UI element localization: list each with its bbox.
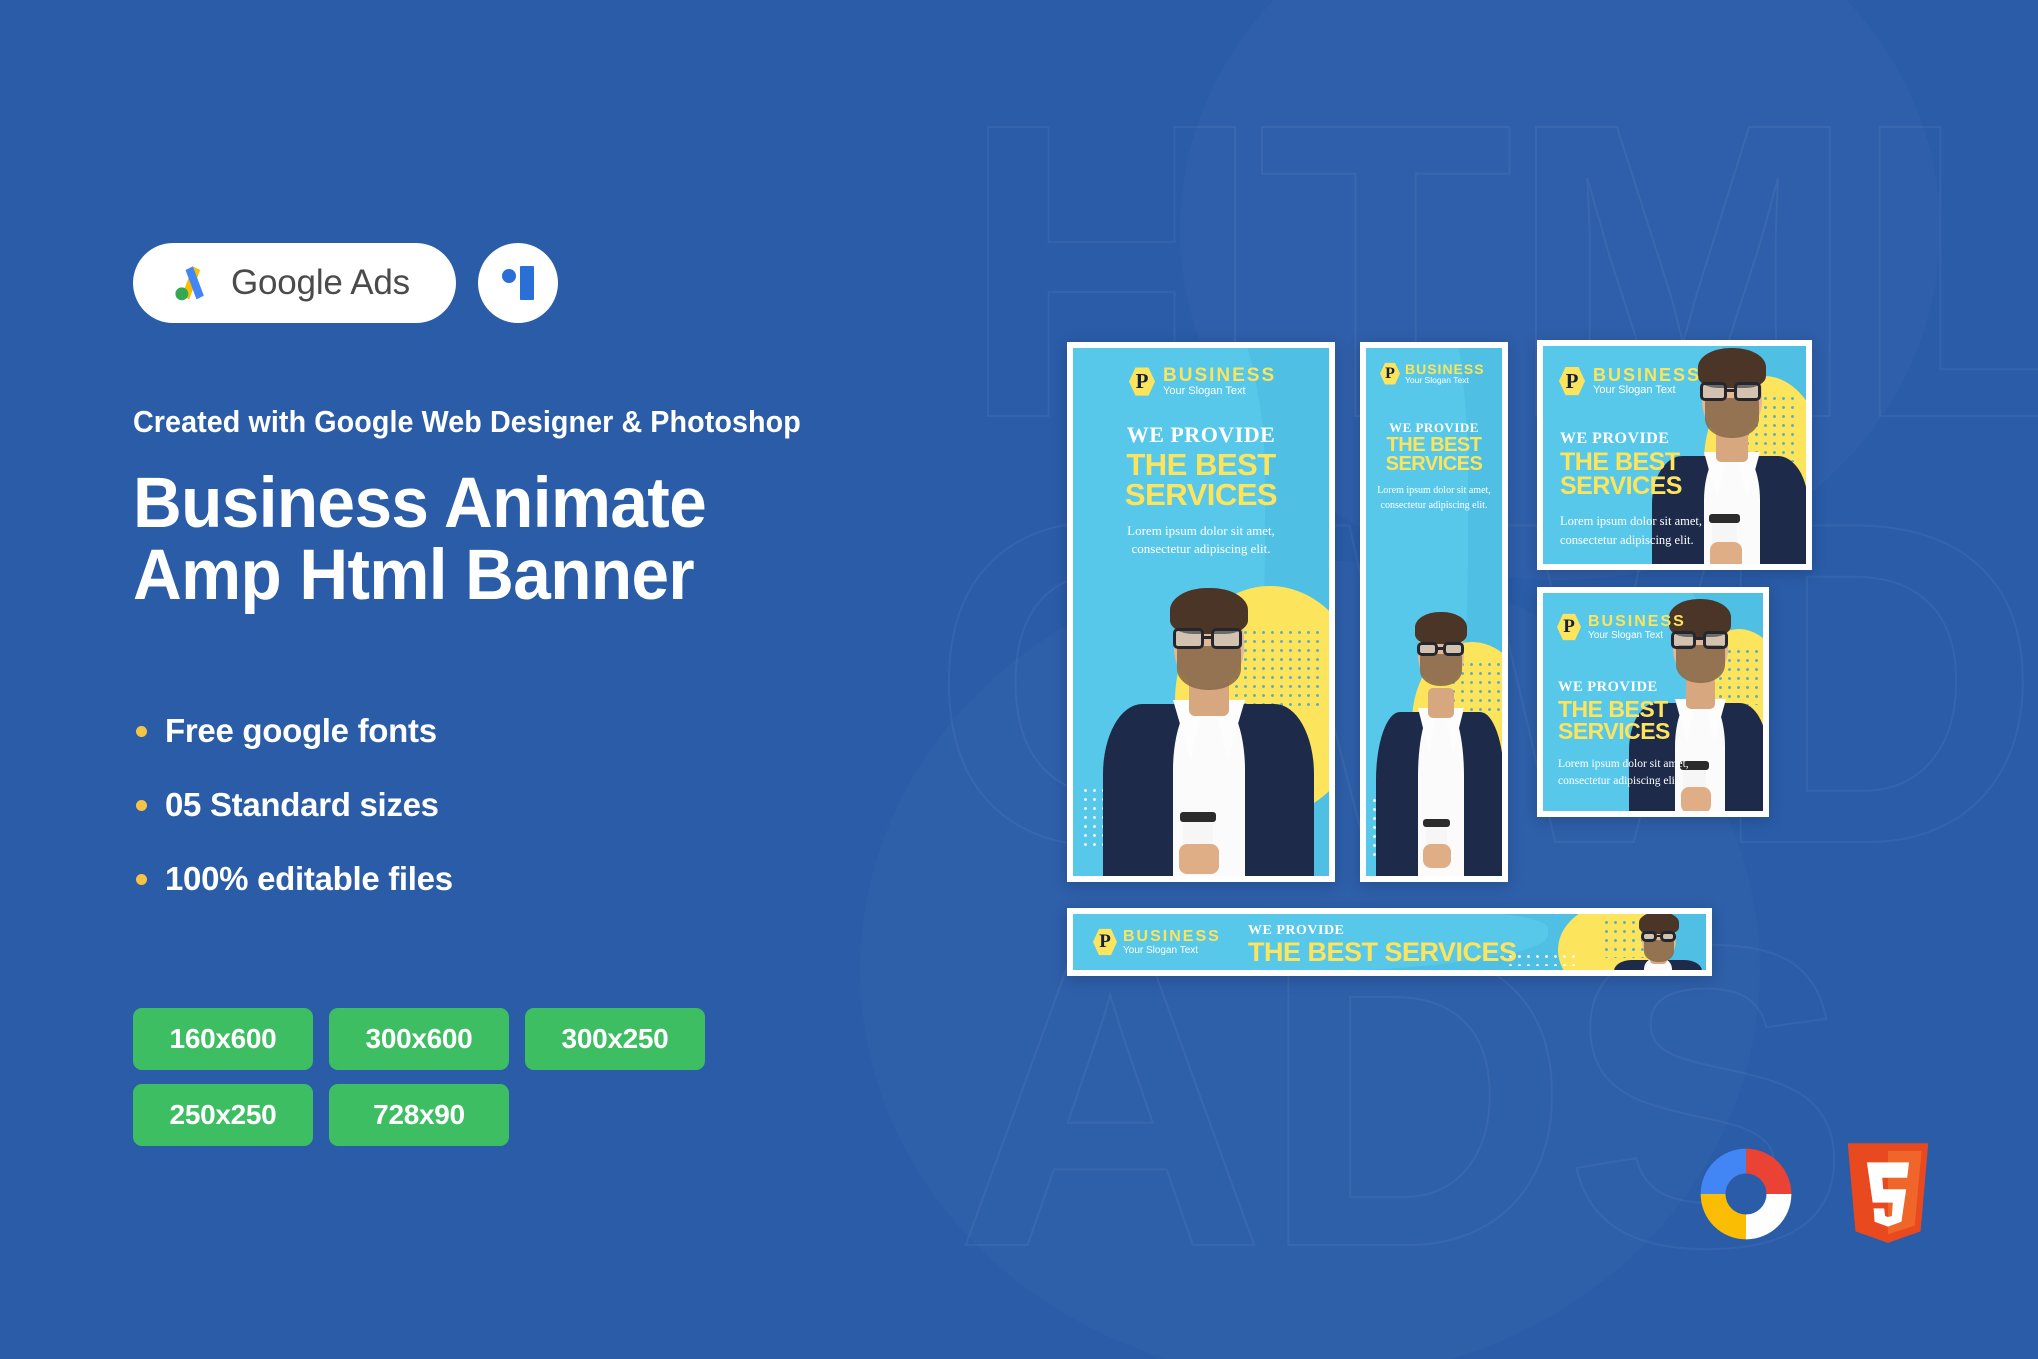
banner-logo: P BUSINESS Your Slogan Text <box>1129 366 1276 397</box>
size-chip-728x90[interactable]: 728x90 <box>329 1084 509 1146</box>
size-chip-160x600[interactable]: 160x600 <box>133 1008 313 1070</box>
size-chip-group: 160x600 300x600 300x250 250x250 728x90 <box>133 1008 733 1160</box>
banner-250x250[interactable]: P BUSINESS Your Slogan Text WE PROVIDE T… <box>1537 587 1769 817</box>
logo-letter: P <box>1566 369 1579 394</box>
banner-copy: WE PROVIDE THE BEST SERVICES Lorem ipsum… <box>1073 422 1329 559</box>
banner-300x250[interactable]: P BUSINESS Your Slogan Text WE PROVIDE T… <box>1537 340 1812 570</box>
size-chip-row: 250x250 728x90 <box>133 1084 733 1146</box>
logo-name: BUSINESS <box>1163 366 1276 385</box>
bullet-dot-icon <box>136 726 147 737</box>
footer-logo-group <box>1692 1140 1934 1253</box>
size-chip-250x250[interactable]: 250x250 <box>133 1084 313 1146</box>
logo-name: BUSINESS <box>1593 366 1701 384</box>
bullet-dot-icon <box>136 874 147 885</box>
banner-copy: WE PROVIDE THE BEST SERVICES Lorem ipsum… <box>1248 923 1527 970</box>
feature-label: 05 Standard sizes <box>165 786 439 824</box>
size-chip-row: 160x600 300x600 300x250 <box>133 1008 733 1070</box>
google-ads-triangle-icon <box>169 259 213 308</box>
logo-hexagon-icon: P <box>1557 613 1581 641</box>
logo-letter: P <box>1563 616 1575 638</box>
banner-headline-1: THE BEST <box>1560 450 1720 474</box>
logo-hexagon-icon: P <box>1380 362 1400 385</box>
size-chip-300x250[interactable]: 300x250 <box>525 1008 705 1070</box>
banner-copy: WE PROVIDE THE BEST SERVICES Lorem ipsum… <box>1558 679 1704 791</box>
list-item: 100% editable files <box>136 860 453 898</box>
banner-canvas: P BUSINESS Your Slogan Text WE PROVIDE T… <box>1073 914 1706 970</box>
banner-300x600[interactable]: P BUSINESS Your Slogan Text WE PROVIDE T… <box>1360 342 1508 882</box>
banner-body: Lorem ipsum dolor sit amet, consectetur … <box>1248 969 1527 970</box>
logo-hexagon-icon: P <box>1093 928 1117 956</box>
logo-hexagon-icon: P <box>1129 367 1155 397</box>
banner-logo: P BUSINESS Your Slogan Text <box>1559 366 1701 396</box>
banner-logo: P BUSINESS Your Slogan Text <box>1557 613 1686 641</box>
logo-slogan: Your Slogan Text <box>1588 630 1686 641</box>
logo-letter: P <box>1099 931 1111 953</box>
list-item: Free google fonts <box>136 712 453 750</box>
logo-name: BUSINESS <box>1588 614 1686 630</box>
banner-eyebrow: WE PROVIDE <box>1073 422 1329 448</box>
google-ads-pill[interactable]: Google Ads <box>133 243 456 323</box>
banner-body: Lorem ipsum dolor sit amet, consectetur … <box>1558 756 1704 791</box>
number-one-badge-icon[interactable] <box>478 243 558 323</box>
banner-headline-2: SERVICES <box>1560 474 1720 498</box>
brand-row: Google Ads <box>133 243 558 323</box>
google-ads-label: Google Ads <box>231 263 410 303</box>
banner-eyebrow: WE PROVIDE <box>1558 679 1704 696</box>
logo-letter: P <box>1136 369 1149 394</box>
banner-headline-2: SERVICES <box>1366 455 1502 474</box>
banner-160x600[interactable]: P BUSINESS Your Slogan Text WE PROVIDE T… <box>1067 342 1335 882</box>
google-web-designer-logo <box>1692 1140 1800 1253</box>
logo-name: BUSINESS <box>1405 362 1485 376</box>
logo-slogan: Your Slogan Text <box>1405 376 1485 385</box>
logo-slogan: Your Slogan Text <box>1163 385 1276 397</box>
page-title: Business Animate Amp Html Banner <box>133 468 706 613</box>
feature-label: 100% editable files <box>165 860 453 898</box>
banner-headline-2: SERVICES <box>1073 480 1329 510</box>
html5-logo <box>1842 1141 1934 1252</box>
banner-canvas: P BUSINESS Your Slogan Text WE PROVIDE T… <box>1543 593 1763 811</box>
page-title-line-1: Business Animate <box>133 468 706 540</box>
page-subtitle: Created with Google Web Designer & Photo… <box>133 405 801 440</box>
banner-canvas: P BUSINESS Your Slogan Text WE PROVIDE T… <box>1366 348 1502 876</box>
banner-headline-1: THE BEST <box>1073 450 1329 480</box>
banner-logo: P BUSINESS Your Slogan Text <box>1093 928 1221 956</box>
banner-body: Lorem ipsum dolor sit amet, consectetur … <box>1096 522 1306 560</box>
banner-eyebrow: WE PROVIDE <box>1560 430 1720 448</box>
size-chip-300x600[interactable]: 300x600 <box>329 1008 509 1070</box>
banner-logo: P BUSINESS Your Slogan Text <box>1380 362 1485 385</box>
feature-list: Free google fonts 05 Standard sizes 100%… <box>136 712 453 934</box>
badge-dot <box>502 269 516 283</box>
banner-headline-2: SERVICES <box>1558 720 1704 742</box>
badge-bar <box>520 266 534 300</box>
page-title-line-2: Amp Html Banner <box>133 540 706 612</box>
list-item: 05 Standard sizes <box>136 786 453 824</box>
logo-letter: P <box>1385 365 1395 383</box>
logo-slogan: Your Slogan Text <box>1123 945 1221 956</box>
businessman-photo <box>1101 576 1316 876</box>
logo-slogan: Your Slogan Text <box>1593 384 1701 396</box>
banner-canvas: P BUSINESS Your Slogan Text WE PROVIDE T… <box>1073 348 1329 876</box>
banner-headline-1: THE BEST <box>1558 698 1704 720</box>
banner-body: Lorem ipsum dolor sit amet, consectetur … <box>1560 512 1720 550</box>
businessman-photo <box>1614 914 1702 970</box>
logo-hexagon-icon: P <box>1559 366 1585 396</box>
banner-canvas: P BUSINESS Your Slogan Text WE PROVIDE T… <box>1543 346 1806 564</box>
businessman-photo <box>1376 600 1502 876</box>
bullet-dot-icon <box>136 800 147 811</box>
logo-name: BUSINESS <box>1123 929 1221 945</box>
banner-728x90[interactable]: P BUSINESS Your Slogan Text WE PROVIDE T… <box>1067 908 1712 976</box>
feature-label: Free google fonts <box>165 712 437 750</box>
banner-copy: WE PROVIDE THE BEST SERVICES Lorem ipsum… <box>1366 420 1502 513</box>
banner-headline: THE BEST SERVICES <box>1248 940 1527 966</box>
banner-copy: WE PROVIDE THE BEST SERVICES Lorem ipsum… <box>1560 430 1720 550</box>
banner-body: Lorem ipsum dolor sit amet, consectetur … <box>1377 484 1491 513</box>
